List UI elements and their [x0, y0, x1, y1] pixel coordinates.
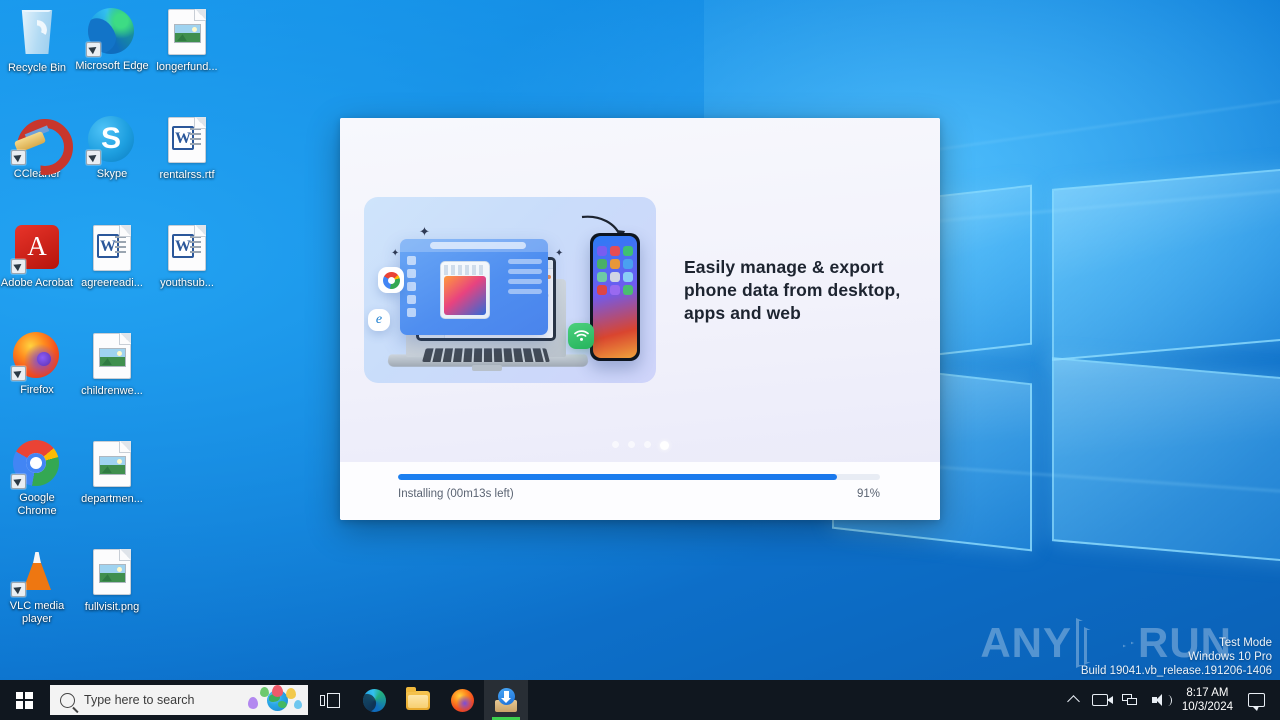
installer-download-icon [494, 688, 518, 712]
desktop-icon-label: Recycle Bin [0, 62, 74, 75]
adobe-acrobat-icon: A [13, 225, 61, 273]
task-view-button[interactable] [308, 680, 352, 720]
installer-progress-area: Installing (00m13s left) 91% [340, 462, 940, 520]
desktop-icon-youthsub[interactable]: W youthsub... [150, 224, 224, 290]
laptop-trackpad [472, 365, 502, 371]
installer-window[interactable]: e ✦ ✦ ✦ Easily manage & export phone dat… [340, 118, 940, 520]
clock-date: 10/3/2024 [1182, 700, 1233, 714]
taskbar-clock[interactable]: 8:17 AM 10/3/2024 [1174, 686, 1241, 714]
desktop-icon-label: youthsub... [150, 277, 224, 290]
installer-promo-slide: e ✦ ✦ ✦ Easily manage & export phone dat… [340, 118, 940, 462]
speaker-icon [1152, 694, 1167, 707]
sparkle-icon: ✦ [419, 225, 430, 238]
vlc-media-player-icon [13, 548, 61, 596]
desktop-icon-recycle-bin[interactable]: Recycle Bin [0, 8, 74, 75]
recycle-bin-icon [13, 10, 61, 58]
windows-logo-icon [16, 692, 33, 709]
progress-bar-fill [398, 474, 837, 480]
tray-camera-button[interactable] [1085, 680, 1115, 720]
wifi-badge-icon [568, 323, 594, 349]
desktop-icon-rentalrss-rtf[interactable]: W rentalrss.rtf [150, 116, 224, 182]
desktop-icon-label: VLC media player [0, 600, 74, 625]
desktop-icon-grid: Recycle Bin Microsoft Edge longerfund...… [0, 0, 240, 660]
taskbar-file-explorer-button[interactable] [396, 680, 440, 720]
app-window-mockup [400, 239, 548, 335]
shortcut-overlay-icon [11, 150, 26, 165]
google-chrome-icon [13, 440, 61, 488]
file-explorer-icon [406, 691, 430, 710]
clock-time: 8:17 AM [1182, 686, 1233, 700]
carousel-dot-1[interactable] [612, 441, 619, 448]
smartphone-mockup [590, 233, 640, 361]
search-icon [60, 693, 75, 708]
desktop-icon-label: fullvisit.png [75, 601, 149, 614]
sparkle-icon: ✦ [555, 249, 563, 259]
image-file-icon [88, 333, 136, 381]
desktop-icon-vlc-media-player[interactable]: VLC media player [0, 548, 74, 625]
progress-bar-track [398, 474, 880, 480]
desktop-icon-label: agreereadi... [75, 277, 149, 290]
desktop-icon-adobe-acrobat[interactable]: A Adobe Acrobat [0, 224, 74, 290]
search-placeholder: Type here to search [84, 693, 194, 707]
system-tray: 8:17 AM 10/3/2024 [1062, 680, 1280, 720]
promo-carousel-dots[interactable] [340, 441, 940, 450]
image-file-icon [88, 549, 136, 597]
word-document-icon: W [163, 225, 211, 273]
desktop-icon-label: Adobe Acrobat [0, 277, 74, 290]
shortcut-overlay-icon [11, 259, 26, 274]
desktop-icon-longerfund[interactable]: longerfund... [150, 8, 224, 74]
taskbar-firefox-button[interactable] [440, 680, 484, 720]
desktop-icon-microsoft-edge[interactable]: Microsoft Edge [75, 8, 149, 73]
edge-legacy-badge-icon: e [368, 309, 390, 331]
desktop-icon-label: longerfund... [150, 61, 224, 74]
install-status-text: Installing (00m13s left) [398, 488, 514, 500]
image-file-icon [163, 9, 211, 57]
word-document-icon: W [163, 117, 211, 165]
search-input[interactable]: Type here to search [50, 685, 308, 715]
carousel-dot-3[interactable] [644, 441, 651, 448]
taskbar-installer-button[interactable] [484, 680, 528, 720]
shortcut-overlay-icon [11, 366, 26, 381]
chrome-badge-icon [378, 267, 404, 293]
taskbar-edge-button[interactable] [352, 680, 396, 720]
desktop-icon-label: Google Chrome [0, 492, 74, 517]
desktop-icon-label: Skype [75, 168, 149, 181]
desktop-icon-fullvisit-png[interactable]: fullvisit.png [75, 548, 149, 614]
wallpaper-pane-bottom-right [1052, 357, 1280, 563]
chevron-up-icon [1067, 695, 1080, 708]
shortcut-overlay-icon [11, 582, 26, 597]
word-document-icon: W [88, 225, 136, 273]
sparkle-icon: ✦ [391, 249, 399, 259]
wallpaper-streak [932, 91, 1280, 151]
shortcut-overlay-icon [86, 150, 101, 165]
promo-illustration: e ✦ ✦ ✦ [364, 197, 656, 383]
desktop-icon-label: rentalrss.rtf [150, 169, 224, 182]
skype-icon: S [88, 116, 136, 164]
desktop-screen: Recycle Bin Microsoft Edge longerfund...… [0, 0, 1280, 720]
desktop-icon-label: CCleaner [0, 168, 74, 181]
desktop-icon-childrenwe[interactable]: childrenwe... [75, 332, 149, 398]
desktop-icon-label: departmen... [75, 493, 149, 506]
image-file-icon [88, 441, 136, 489]
taskbar: Type here to search [0, 680, 1280, 720]
notification-icon [1248, 693, 1265, 707]
show-hidden-icons-button[interactable] [1062, 680, 1085, 720]
shortcut-overlay-icon [86, 42, 101, 57]
ccleaner-icon [13, 116, 61, 164]
desktop-icon-ccleaner[interactable]: CCleaner [0, 116, 74, 181]
promo-headline: Easily manage & export phone data from d… [684, 256, 914, 325]
action-center-button[interactable] [1241, 680, 1276, 720]
desktop-icon-label: childrenwe... [75, 385, 149, 398]
network-icon [1122, 694, 1138, 707]
carousel-dot-2[interactable] [628, 441, 635, 448]
desktop-icon-label: Firefox [0, 384, 74, 397]
tray-volume-button[interactable] [1145, 680, 1174, 720]
firefox-icon [13, 332, 61, 380]
desktop-icon-firefox[interactable]: Firefox [0, 332, 74, 397]
desktop-icon-skype[interactable]: S Skype [75, 116, 149, 181]
desktop-icon-google-chrome[interactable]: Google Chrome [0, 440, 74, 517]
tray-network-button[interactable] [1115, 680, 1145, 720]
desktop-icon-departmen[interactable]: departmen... [75, 440, 149, 506]
wallpaper-pane-top-right [1052, 167, 1280, 361]
laptop-keyboard [422, 348, 550, 362]
camera-icon [1092, 694, 1108, 706]
firefox-icon [451, 689, 474, 712]
microsoft-edge-icon [88, 8, 136, 56]
task-view-icon [320, 693, 340, 708]
microsoft-edge-icon [363, 689, 386, 712]
search-illustration [242, 685, 304, 715]
shortcut-overlay-icon [11, 474, 26, 489]
desktop-icon-label: Microsoft Edge [75, 60, 149, 73]
start-button[interactable] [0, 680, 48, 720]
desktop-icon-agreereadi[interactable]: W agreereadi... [75, 224, 149, 290]
install-percent-label: 91% [857, 488, 880, 500]
carousel-dot-4[interactable] [660, 441, 669, 450]
